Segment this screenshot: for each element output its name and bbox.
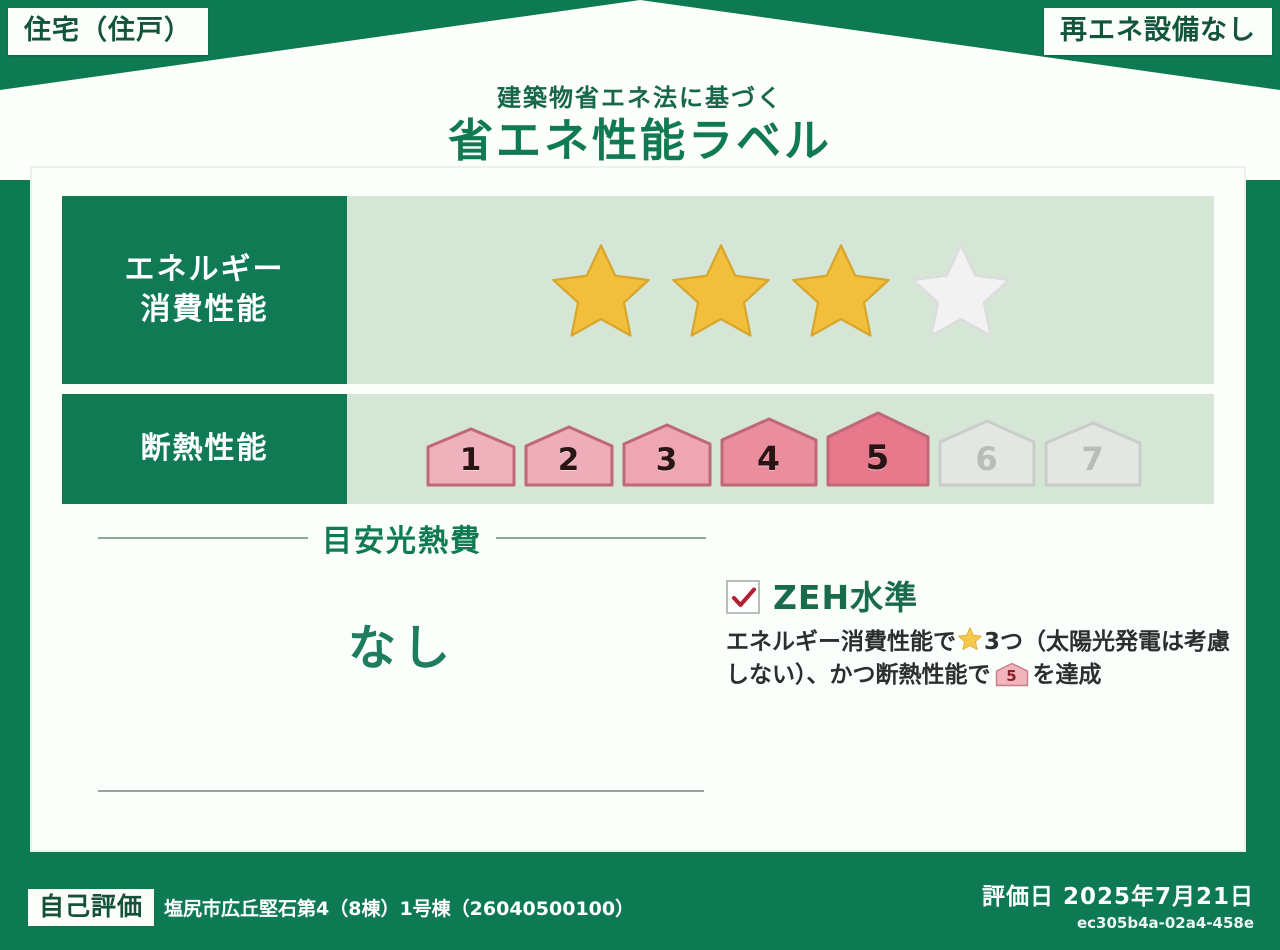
row-insulation-label: 断熱性能 — [62, 394, 347, 504]
insulation-grade-2: 2 — [523, 424, 615, 488]
divider-left — [98, 537, 308, 539]
zeh-desc-part2: 3つ（太陽光発電 — [984, 629, 1161, 655]
divider-right — [496, 537, 706, 539]
zeh-description: エネルギー消費性能で3つ（太陽光発電は考慮しない）、かつ断熱性能で5を達成 — [726, 626, 1246, 691]
row-energy-label-line2: 消費性能 — [125, 290, 285, 331]
insulation-grade-value: 1 — [460, 442, 482, 488]
insulation-grade-inline-value: 5 — [995, 662, 1029, 687]
star-icon-filled — [669, 240, 773, 340]
page-title: 省エネ性能ラベル — [0, 115, 1280, 167]
insulation-grade-value: 7 — [1081, 440, 1103, 488]
star-icon — [957, 626, 983, 652]
badge-renewable-equipment: 再エネ設備なし — [1044, 8, 1272, 55]
footer: 自己評価 塩尻市広丘堅石第4（8棟）1号棟（26040500100） 評価日 2… — [0, 852, 1280, 950]
star-rating — [549, 240, 1013, 340]
zeh-desc-part4: を達成 — [1033, 662, 1102, 688]
star-icon-empty — [909, 240, 1013, 340]
property-address: 塩尻市広丘堅石第4（8棟）1号棟（26040500100） — [164, 894, 634, 921]
row-energy-value — [347, 196, 1214, 384]
title-subtitle: 建築物省エネ法に基づく — [0, 84, 1280, 113]
row-energy-performance: エネルギー 消費性能 — [62, 196, 1214, 384]
row-energy-label-line1: エネルギー — [125, 250, 285, 291]
zeh-title: ZEH水準 — [773, 581, 918, 614]
row-energy-label: エネルギー 消費性能 — [62, 196, 347, 384]
insulation-grade-value: 4 — [757, 439, 780, 488]
footer-left: 自己評価 塩尻市広丘堅石第4（8棟）1号棟（26040500100） — [28, 889, 634, 926]
insulation-grade-6: 6 — [937, 418, 1037, 488]
utility-cost-bottom-rule — [98, 790, 704, 792]
zeh-desc-part1: エネルギー消費性能で — [726, 629, 956, 655]
insulation-grade-value: 3 — [656, 442, 678, 488]
insulation-grade-3: 3 — [621, 422, 713, 488]
insulation-grade-value: 2 — [558, 442, 580, 488]
self-assessment-badge: 自己評価 — [28, 889, 154, 926]
zeh-header: ZEH水準 — [726, 580, 1246, 614]
insulation-grade-inline-icon: 5 — [995, 662, 1029, 687]
row-insulation-performance: 断熱性能 1234567 — [62, 394, 1214, 504]
main-card: エネルギー 消費性能 断熱性能 1234567 目安光熱費 なし — [30, 166, 1246, 852]
utility-cost-title: 目安光熱費 — [322, 516, 482, 560]
insulation-grade-1: 1 — [425, 426, 517, 488]
check-icon — [731, 585, 757, 611]
footer-right: 評価日 2025年7月21日 ec305b4a-02a4-458e — [982, 884, 1254, 932]
zeh-block: ZEH水準 エネルギー消費性能で3つ（太陽光発電は考慮しない）、かつ断熱性能で5… — [726, 580, 1246, 691]
evaluation-date: 評価日 2025年7月21日 — [982, 884, 1254, 912]
insulation-grade-5: 5 — [825, 410, 931, 488]
utility-cost-value: なし — [98, 608, 706, 678]
evaluation-id: ec305b4a-02a4-458e — [982, 914, 1254, 932]
star-icon-filled — [549, 240, 653, 340]
badge-building-type: 住宅（住戸） — [8, 8, 208, 55]
insulation-grade-value: 6 — [975, 440, 997, 488]
star-icon-filled — [789, 240, 893, 340]
row-insulation-value: 1234567 — [347, 394, 1214, 504]
energy-performance-label: 住宅（住戸） 再エネ設備なし 建築物省エネ法に基づく 省エネ性能ラベル エネルギ… — [0, 0, 1280, 950]
insulation-grade-value: 5 — [866, 438, 890, 488]
insulation-grade-4: 4 — [719, 416, 819, 488]
insulation-grade-7: 7 — [1043, 420, 1143, 488]
insulation-grade-scale: 1234567 — [425, 410, 1143, 488]
zeh-checkbox[interactable] — [726, 580, 760, 614]
utility-cost-header: 目安光熱費 — [98, 516, 706, 560]
title-block: 建築物省エネ法に基づく 省エネ性能ラベル — [0, 84, 1280, 167]
